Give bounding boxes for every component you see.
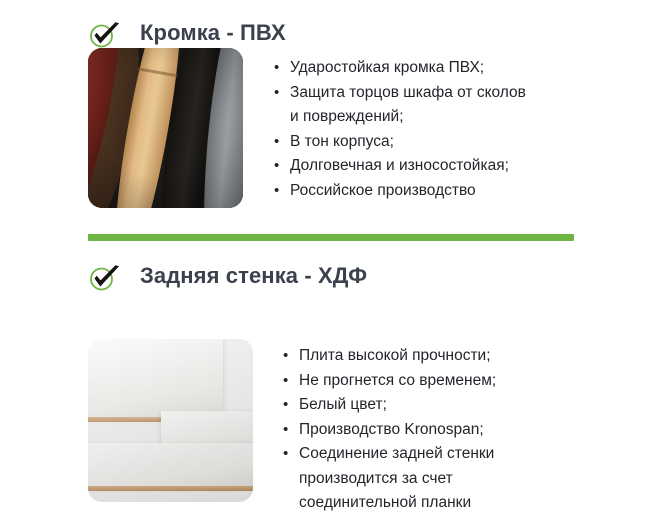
board-core-edge: [88, 486, 253, 491]
list-item: Долговечная и износостойкая;: [274, 154, 604, 179]
green-divider: [88, 234, 574, 241]
section-heading-row: Задняя стенка - ХДФ: [0, 243, 652, 287]
section-heading-row: Кромка - ПВХ: [0, 0, 652, 44]
pvc-edge-banding-image: [88, 48, 243, 208]
edge-banding-illustration: [88, 48, 243, 208]
list-item: Производство Kronospan;: [283, 418, 603, 443]
list-item: Не прогнется со временем;: [283, 369, 603, 394]
hdf-board-image: [88, 339, 253, 502]
feature-list-edge: Ударостойкая кромка ПВХ; Защита торцов ш…: [274, 56, 604, 203]
section-body: Плита высокой прочности; Не прогнется со…: [0, 287, 652, 507]
board-top: [88, 339, 223, 417]
list-item: Плита высокой прочности;: [283, 344, 603, 369]
hdf-illustration: [88, 339, 253, 502]
section-body: Ударостойкая кромка ПВХ; Защита торцов ш…: [0, 44, 652, 266]
feature-list-back-panel: Плита высокой прочности; Не прогнется со…: [283, 344, 603, 516]
board-bottom: [88, 443, 253, 485]
list-item: Белый цвет;: [283, 393, 603, 418]
section-edge-pvc: Кромка - ПВХ Ударостойкая кромка ПВХ; За…: [0, 0, 652, 266]
list-item: Соединение задней стенки производится за…: [283, 442, 603, 516]
product-features-page: Кромка - ПВХ Ударостойкая кромка ПВХ; За…: [0, 0, 652, 500]
list-item: В тон корпуса;: [274, 130, 604, 155]
list-item: Защита торцов шкафа от сколов и поврежде…: [274, 81, 604, 130]
image-vignette: [88, 48, 243, 208]
list-item: Российское производство: [274, 179, 604, 204]
list-item: Ударостойкая кромка ПВХ;: [274, 56, 604, 81]
section-back-panel-hdf: Задняя стенка - ХДФ Плита высокой прочно…: [0, 243, 652, 507]
